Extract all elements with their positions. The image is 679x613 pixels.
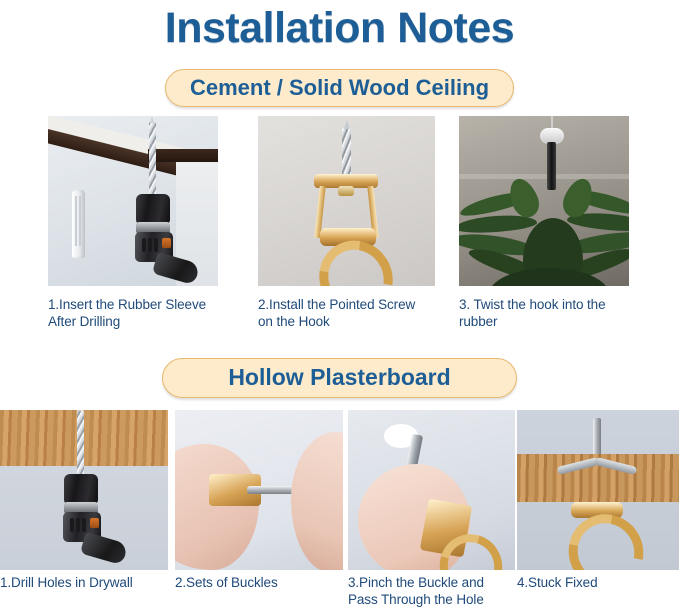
step-image-twist-hook-into-rubber xyxy=(459,116,629,286)
step-caption-1-3: 3. Twist the hook into the rubber xyxy=(459,296,644,330)
step-caption-2-3: 3.Pinch the Buckle and Pass Through the … xyxy=(348,574,516,608)
drill-trigger xyxy=(90,518,99,528)
step-caption-2-1: 1.Drill Holes in Drywall xyxy=(0,574,165,591)
step-caption-2-2: 2.Sets of Buckles xyxy=(175,574,340,591)
step-caption-1-2: 2.Install the Pointed Screw on the Hook xyxy=(258,296,433,330)
drill-chuck xyxy=(136,194,170,224)
step-image-sets-of-buckles xyxy=(175,410,343,570)
step-image-drill-holes-in-drywall xyxy=(0,410,168,570)
section-badge-cement-solid-wood-ceiling: Cement / Solid Wood Ceiling xyxy=(165,69,514,107)
step-image-insert-rubber-sleeve xyxy=(48,116,218,286)
rubber-sleeve-anchor xyxy=(72,190,85,258)
wooden-ceiling-board xyxy=(0,410,168,466)
drill-vents xyxy=(142,238,146,252)
pointed-screw-icon xyxy=(342,128,351,176)
step-image-pinch-buckle-pass-through-hole xyxy=(348,410,515,570)
page-title: Installation Notes xyxy=(0,2,679,54)
step-caption-1-1: 1.Insert the Rubber Sleeve After Drillin… xyxy=(48,296,223,330)
step-caption-2-4: 4.Stuck Fixed xyxy=(517,574,677,591)
drill-trigger xyxy=(162,238,171,248)
drill-bit-icon xyxy=(149,122,156,194)
hook-swivel-nut xyxy=(338,186,354,196)
drill-vents xyxy=(70,518,74,532)
fern-plant xyxy=(459,172,629,286)
step-image-stuck-fixed xyxy=(517,410,679,570)
step-image-pointed-screw-hook xyxy=(258,116,435,286)
drill-bit-icon xyxy=(77,410,84,474)
ceiling-beam-secondary xyxy=(148,149,218,162)
drill-chuck xyxy=(64,474,98,504)
section-badge-hollow-plasterboard: Hollow Plasterboard xyxy=(162,358,517,398)
